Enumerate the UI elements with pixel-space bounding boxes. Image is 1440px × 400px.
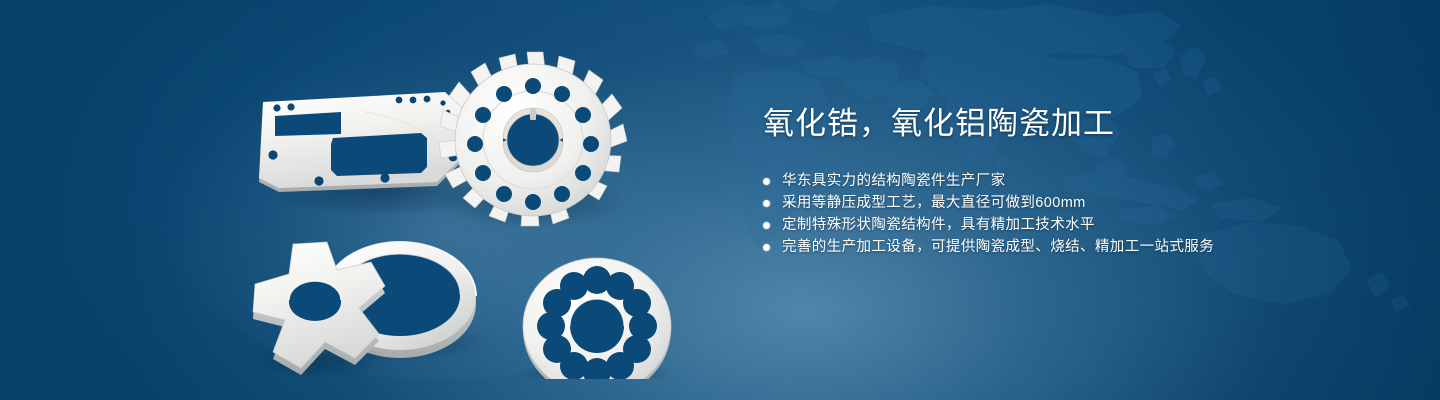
feature-item: 完善的生产加工设备，可提供陶瓷成型、烧结、精加工一站式服务 [763, 236, 1383, 258]
feature-item: 华东具实力的结构陶瓷件生产厂家 [763, 170, 1383, 192]
feature-item-label: 定制特殊形状陶瓷结构件，具有精加工技术水平 [782, 214, 1095, 236]
bullet-dot-icon [763, 244, 770, 251]
bullet-dot-icon [763, 200, 770, 207]
banner-headline: 氧化锆，氧化铝陶瓷加工 [763, 104, 1383, 144]
feature-item-label: 华东具实力的结构陶瓷件生产厂家 [782, 170, 1006, 192]
bullet-dot-icon [763, 222, 770, 229]
feature-item-label: 完善的生产加工设备，可提供陶瓷成型、烧结、精加工一站式服务 [782, 236, 1214, 258]
feature-item: 采用等静压成型工艺，最大直径可做到600mm [763, 192, 1383, 214]
product-ceramic-perforated-disc [519, 258, 675, 379]
banner-feature-list: 华东具实力的结构陶瓷件生产厂家 采用等静压成型工艺，最大直径可做到600mm 定… [763, 170, 1383, 258]
bullet-dot-icon [763, 178, 770, 185]
product-ceramic-impeller [437, 52, 629, 228]
hero-banner: 氧化锆，氧化铝陶瓷加工 华东具实力的结构陶瓷件生产厂家 采用等静压成型工艺，最大… [0, 0, 1440, 400]
banner-text-column: 氧化锆，氧化铝陶瓷加工 华东具实力的结构陶瓷件生产厂家 采用等静压成型工艺，最大… [763, 104, 1383, 258]
feature-item: 定制特殊形状陶瓷结构件，具有精加工技术水平 [763, 214, 1383, 236]
feature-item-label: 采用等静压成型工艺，最大直径可做到600mm [782, 192, 1086, 214]
product-photo-group [215, 34, 735, 379]
